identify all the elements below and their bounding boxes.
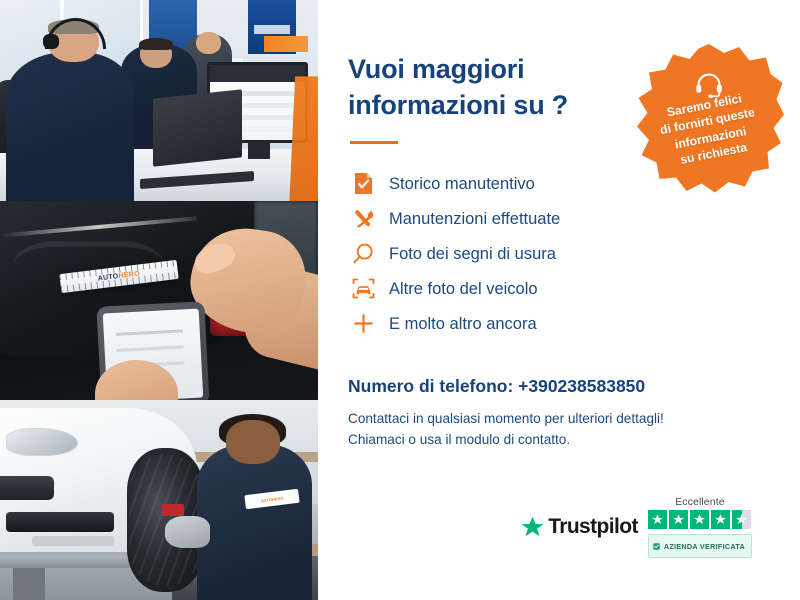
verified-label: AZIENDA VERIFICATA bbox=[664, 542, 745, 551]
headline-line-2: informazioni su ? bbox=[348, 90, 568, 120]
contact-description: Contattaci in qualsiasi momento per ulte… bbox=[348, 408, 800, 450]
car-lower-grille bbox=[6, 512, 114, 532]
orange-accent-shelf bbox=[264, 36, 309, 52]
photo-mechanic-inspecting-tire: AUTOHERO bbox=[0, 400, 318, 600]
rating-label: Eccellente bbox=[675, 496, 724, 508]
agent-headset-earcup bbox=[43, 34, 59, 49]
car-grille bbox=[0, 476, 54, 500]
phone-number[interactable]: Numero di telefono: +390238583850 bbox=[348, 376, 800, 397]
hand-tool bbox=[162, 504, 184, 516]
star-icon bbox=[648, 510, 667, 529]
car-scan-icon bbox=[348, 276, 378, 302]
star-icon bbox=[669, 510, 688, 529]
feature-label: Foto dei segni di usura bbox=[389, 246, 556, 263]
uniform-logo-text: AUTOHERO bbox=[260, 495, 283, 503]
check-square-icon bbox=[653, 537, 660, 555]
foreground-agent bbox=[6, 52, 133, 201]
feature-label: Altre foto del veicolo bbox=[389, 281, 538, 298]
background-agent-3-head bbox=[196, 32, 221, 54]
feature-label: Manutenzioni effettuate bbox=[389, 211, 560, 228]
photo-inspection-ruler-on-black-car: AUTOHERO bbox=[0, 201, 318, 400]
headline-line-1: Vuoi maggiori bbox=[348, 54, 524, 84]
trustpilot-rating: Eccellente bbox=[648, 496, 752, 558]
car-headlight bbox=[6, 428, 78, 456]
promo-banner: AUTOHERO bbox=[0, 0, 800, 600]
mechanic-glove bbox=[165, 516, 210, 548]
support-badge: Saremo felici di fornirti queste informa… bbox=[634, 44, 784, 194]
list-item: Altre foto del veicolo bbox=[348, 271, 800, 306]
tools-wrench-screwdriver-icon bbox=[348, 206, 378, 232]
list-item: Manutenzioni effettuate bbox=[348, 201, 800, 236]
star-rating bbox=[648, 510, 751, 529]
verified-badge: AZIENDA VERIFICATA bbox=[648, 534, 752, 558]
photo-column: AUTOHERO bbox=[0, 0, 318, 600]
list-item: Foto dei segni di usura bbox=[348, 236, 800, 271]
photo-call-center-agents-with-headsets bbox=[0, 0, 318, 201]
half-star-icon bbox=[732, 510, 751, 529]
background-agent-2-hair bbox=[139, 38, 173, 50]
feature-label: E molto altro ancora bbox=[389, 316, 537, 333]
page-title: Vuoi maggiori informazioni su ? bbox=[348, 52, 648, 123]
contact-block: Numero di telefono: +390238583850 Contat… bbox=[348, 376, 800, 450]
list-item: E molto altro ancora bbox=[348, 306, 800, 341]
content-panel: Vuoi maggiori informazioni su ? Storico … bbox=[318, 0, 800, 600]
trustpilot-widget[interactable]: Trustpilot Eccellente bbox=[520, 496, 752, 558]
lift-arm bbox=[0, 556, 140, 568]
star-icon bbox=[711, 510, 730, 529]
feature-label: Storico manutentivo bbox=[389, 176, 535, 193]
contact-line-1: Contattaci in qualsiasi momento per ulte… bbox=[348, 408, 800, 429]
contact-line-2: Chiamaci o usa il modulo di contatto. bbox=[348, 429, 800, 450]
trustpilot-wordmark: Trustpilot bbox=[548, 515, 638, 539]
car-lower-trim bbox=[32, 536, 115, 546]
lift-post bbox=[13, 568, 45, 600]
plus-icon bbox=[348, 311, 378, 337]
star-icon bbox=[690, 510, 709, 529]
trustpilot-star-icon bbox=[520, 515, 545, 540]
magnifier-icon bbox=[348, 241, 378, 267]
mechanic-body bbox=[197, 444, 311, 600]
trustpilot-logo[interactable]: Trustpilot bbox=[520, 515, 638, 540]
laptop-screen bbox=[153, 90, 242, 168]
mechanic-head bbox=[226, 420, 280, 464]
title-divider bbox=[350, 141, 398, 144]
document-check-icon bbox=[348, 171, 378, 197]
monitor-stand bbox=[248, 141, 270, 159]
